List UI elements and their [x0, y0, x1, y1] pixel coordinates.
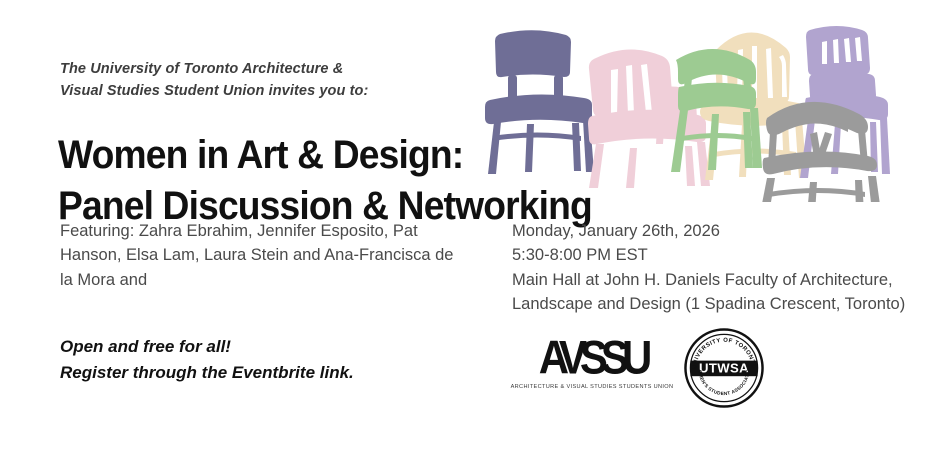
lavender-slat-back-chair-icon: [800, 26, 890, 178]
event-poster: The University of Toronto Architecture &…: [0, 0, 940, 470]
avssu-wordmark: AVSSU: [539, 333, 650, 384]
organizer-kicker: The University of Toronto Architecture &…: [60, 58, 368, 103]
grey-wishbone-chair-icon: [760, 102, 881, 202]
event-details-text: Monday, January 26th, 2026 5:30-8:00 PM …: [512, 219, 912, 317]
pink-plastic-armchair-icon: [588, 49, 710, 188]
cream-windsor-chair-icon: [700, 32, 807, 180]
avssu-logo: AVSSU ARCHITECTURE & VISUAL STUDIES STUD…: [505, 333, 680, 395]
featured-speakers-text: Featuring: Zahra Ebrahim, Jennifer Espos…: [60, 219, 455, 292]
green-stacking-chair-icon: [671, 49, 762, 172]
avssu-tagline: ARCHITECTURE & VISUAL STUDIES STUDENTS U…: [511, 384, 674, 390]
registration-cta-text: Open and free for all! Register through …: [60, 334, 354, 386]
utwsa-logo: UTWSA UNIVERSITY OF TORONTO WOMEN'S STUD…: [683, 327, 765, 409]
utwsa-center-text: UTWSA: [699, 361, 749, 376]
page-title: Women in Art & Design: Panel Discussion …: [58, 130, 592, 232]
